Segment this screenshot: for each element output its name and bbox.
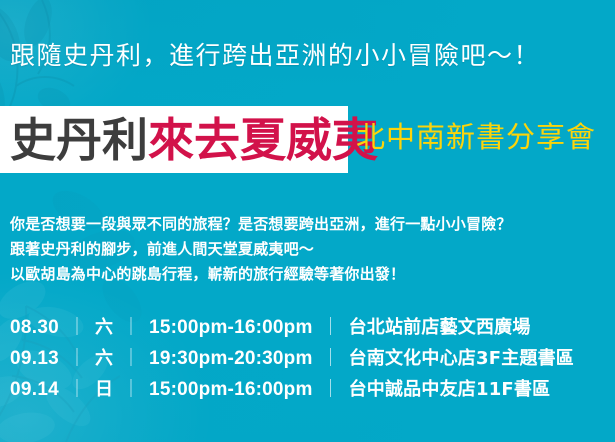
schedule-venue: 台中誠品中友店11F書區: [349, 375, 551, 401]
poster-title: 史丹利 來去夏威夷: [10, 104, 378, 175]
body-line: 你是否想要一段與眾不同的旅程？是否想要跨出亞洲，進行一點小小冒險？: [10, 212, 600, 237]
schedule-venue: 台北站前店藝文西廣場: [349, 313, 531, 339]
poster-headline: 跟隨史丹利，進行跨出亞洲的小小冒險吧～！: [10, 40, 540, 72]
schedule-separator: ｜: [313, 344, 349, 370]
schedule-weekday: 六: [95, 344, 113, 370]
schedule-weekday: 六: [95, 313, 113, 339]
schedule-date: 08.30: [10, 317, 59, 339]
schedule-row: 09.13 ｜ 六 ｜ 19:30pm-20:30pm ｜ 台南文化中心店3F主…: [10, 344, 605, 375]
schedule-date: 09.14: [10, 379, 59, 401]
schedule-row: 09.14 ｜ 日 ｜ 15:00pm-16:00pm ｜ 台中誠品中友店11F…: [10, 375, 605, 406]
schedule-separator: ｜: [113, 313, 149, 339]
poster-subtitle: 北中南新書分享會: [356, 120, 596, 154]
schedule-time: 15:00pm-16:00pm: [149, 379, 313, 401]
schedule-separator: ｜: [59, 313, 95, 339]
poster-content: 跟隨史丹利，進行跨出亞洲的小小冒險吧～！ 史丹利 來去夏威夷 北中南新書分享會 …: [0, 0, 615, 442]
schedule-row: 08.30 ｜ 六 ｜ 15:00pm-16:00pm ｜ 台北站前店藝文西廣場: [10, 313, 605, 344]
title-part-red: 來去夏威夷: [148, 116, 378, 164]
schedule-separator: ｜: [59, 375, 95, 401]
schedule-separator: ｜: [113, 375, 149, 401]
schedule-venue: 台南文化中心店3F主題書區: [349, 344, 574, 370]
schedule-separator: ｜: [313, 313, 349, 339]
schedule-date: 09.13: [10, 348, 59, 370]
title-part-dark: 史丹利: [10, 116, 148, 164]
schedule-separator: ｜: [313, 375, 349, 401]
schedule-separator: ｜: [59, 344, 95, 370]
event-schedule: 08.30 ｜ 六 ｜ 15:00pm-16:00pm ｜ 台北站前店藝文西廣場…: [10, 313, 605, 406]
body-line: 以歐胡島為中心的跳島行程，嶄新的旅行經驗等著你出發！: [10, 262, 600, 287]
schedule-weekday: 日: [95, 375, 113, 401]
body-line: 跟著史丹利的腳步，前進人間天堂夏威夷吧～: [10, 237, 600, 262]
schedule-time: 19:30pm-20:30pm: [149, 348, 313, 370]
schedule-time: 15:00pm-16:00pm: [149, 317, 313, 339]
schedule-separator: ｜: [113, 344, 149, 370]
poster-body-copy: 你是否想要一段與眾不同的旅程？是否想要跨出亞洲，進行一點小小冒險？ 跟著史丹利的…: [10, 212, 600, 287]
promo-poster: 跟隨史丹利，進行跨出亞洲的小小冒險吧～！ 史丹利 來去夏威夷 北中南新書分享會 …: [0, 0, 615, 442]
